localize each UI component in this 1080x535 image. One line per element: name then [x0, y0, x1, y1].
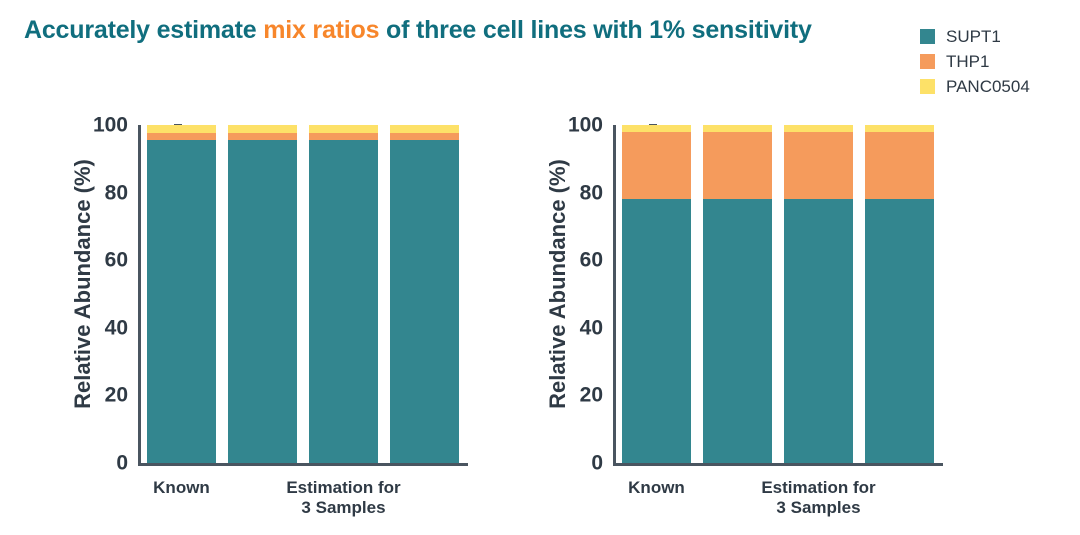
bar-segment-panc0504	[622, 125, 691, 132]
bar-segment-thp1	[390, 133, 459, 140]
bar-segment-panc0504	[784, 125, 853, 132]
x-axis-labels-left: KnownEstimation for3 Samples	[138, 470, 468, 530]
bar-segment-supt1	[703, 199, 772, 463]
bar-segment-thp1	[309, 133, 378, 140]
y-tick-label: 20	[541, 385, 603, 406]
bar-segment-supt1	[228, 140, 297, 463]
bar-segment-supt1	[784, 199, 853, 463]
y-tick-label: 80	[66, 182, 128, 203]
bar-segment-panc0504	[309, 125, 378, 133]
plot-area-left	[141, 125, 465, 463]
chart-panel-left: Relative Abundance (%) 020406080100 Know…	[22, 92, 512, 535]
chart-panel-right: Relative Abundance (%) 020406080100 Know…	[497, 92, 987, 535]
x-label-line-1: Estimation for	[228, 478, 459, 498]
y-tick-label: 40	[541, 317, 603, 338]
bar-segment-panc0504	[865, 125, 934, 132]
y-tick-label: 0	[541, 453, 603, 474]
y-axis-title-left: Relative Abundance (%)	[50, 0, 84, 92]
bar	[228, 125, 297, 463]
bar-segment-supt1	[622, 199, 691, 463]
bar	[865, 125, 934, 463]
y-tick-label: 20	[66, 385, 128, 406]
bar-segment-thp1	[784, 132, 853, 200]
x-axis-line-right	[613, 463, 943, 466]
bar-segment-thp1	[228, 133, 297, 140]
x-axis-group-label: Estimation for3 Samples	[228, 478, 459, 517]
y-axis-ticks-right: 020406080100	[541, 92, 603, 470]
x-label-line-1: Known	[147, 478, 216, 498]
bar-segment-supt1	[309, 140, 378, 463]
x-axis-labels-right: KnownEstimation for3 Samples	[613, 470, 943, 530]
x-axis-group-label: Known	[622, 478, 691, 498]
bar-segment-supt1	[390, 140, 459, 463]
bar	[309, 125, 378, 463]
x-axis-group-label: Known	[147, 478, 216, 498]
bar-segment-panc0504	[390, 125, 459, 133]
y-tick-label: 100	[541, 115, 603, 136]
x-label-line-2: 3 Samples	[228, 498, 459, 518]
bar	[784, 125, 853, 463]
bar-segment-panc0504	[703, 125, 772, 132]
legend-item[interactable]: SUPT1	[920, 24, 1070, 49]
y-tick-label: 40	[66, 317, 128, 338]
legend: SUPT1THP1PANC0504	[920, 24, 1070, 99]
y-tick-label: 100	[66, 115, 128, 136]
y-axis-title-right: Relative Abundance (%)	[525, 0, 559, 92]
bar	[147, 125, 216, 463]
x-axis-line-left	[138, 463, 468, 466]
bar-segment-supt1	[147, 140, 216, 463]
legend-swatch-icon	[920, 79, 935, 94]
y-tick-label: 60	[66, 250, 128, 271]
figure: Relative Abundance (%) 020406080100 Know…	[0, 92, 1080, 535]
title-highlight: mix ratios	[263, 16, 379, 44]
bar-segment-panc0504	[147, 125, 216, 133]
bar	[390, 125, 459, 463]
bar-segment-supt1	[865, 199, 934, 463]
legend-label: PANC0504	[946, 77, 1030, 97]
bar-segment-thp1	[622, 132, 691, 200]
y-axis-ticks-left: 020406080100	[66, 92, 128, 470]
bar-segment-thp1	[703, 132, 772, 200]
legend-swatch-icon	[920, 29, 935, 44]
y-tick-label: 80	[541, 182, 603, 203]
y-tick-label: 0	[66, 453, 128, 474]
legend-item[interactable]: PANC0504	[920, 74, 1070, 99]
x-axis-group-label: Estimation for3 Samples	[703, 478, 934, 517]
bar	[703, 125, 772, 463]
bar	[622, 125, 691, 463]
x-label-line-2: 3 Samples	[703, 498, 934, 518]
y-tick-label: 60	[541, 250, 603, 271]
legend-swatch-icon	[920, 54, 935, 69]
title-text-part2: of three cell lines with 1% sensitivity	[379, 16, 811, 44]
legend-label: THP1	[946, 52, 989, 72]
bar-segment-panc0504	[228, 125, 297, 133]
legend-item[interactable]: THP1	[920, 49, 1070, 74]
plot-area-right	[616, 125, 940, 463]
legend-label: SUPT1	[946, 27, 1001, 47]
x-label-line-1: Known	[622, 478, 691, 498]
bar-segment-thp1	[865, 132, 934, 200]
bar-segment-thp1	[147, 133, 216, 140]
x-label-line-1: Estimation for	[703, 478, 934, 498]
